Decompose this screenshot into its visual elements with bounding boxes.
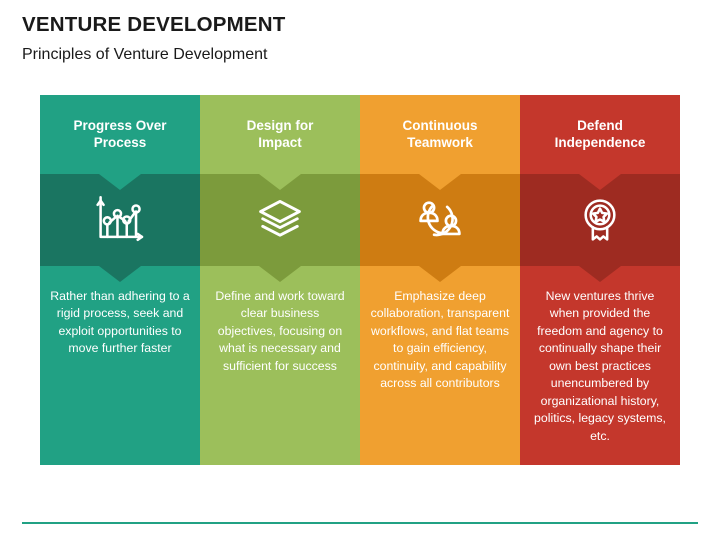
award-ribbon-icon — [573, 193, 627, 247]
column-header-4: Defend Independence — [520, 95, 680, 174]
principles-columns: Progress Over Process — [40, 95, 680, 465]
column-progress-over-process[interactable]: Progress Over Process — [40, 95, 200, 465]
title-block: VENTURE DEVELOPMENT Principles of Ventur… — [22, 14, 682, 63]
column-header-2: Design for Impact — [200, 95, 360, 174]
column-body-text-4: New ventures thrive when provided the fr… — [530, 288, 670, 445]
column-icon-band-3 — [360, 174, 520, 266]
chevron-notch-top-4 — [579, 174, 621, 190]
column-body-text-1: Rather than adhering to a rigid process,… — [50, 288, 190, 358]
column-body-text-2: Define and work toward clear business ob… — [210, 288, 350, 375]
column-defend-independence[interactable]: Defend Independence New ventures thrive … — [520, 95, 680, 465]
chevron-notch-bottom-4 — [579, 266, 621, 282]
column-header-label-3: Continuous Teamwork — [403, 118, 478, 152]
team-collaboration-icon — [413, 193, 467, 247]
column-header-label-1: Progress Over Process — [73, 118, 166, 152]
column-icon-band-4 — [520, 174, 680, 266]
column-body-1: Rather than adhering to a rigid process,… — [40, 266, 200, 465]
column-body-4: New ventures thrive when provided the fr… — [520, 266, 680, 465]
chevron-notch-top-1 — [99, 174, 141, 190]
chevron-notch-bottom-1 — [99, 266, 141, 282]
column-icon-band-1 — [40, 174, 200, 266]
page-title: VENTURE DEVELOPMENT — [22, 14, 682, 37]
line-chart-icon — [93, 193, 147, 247]
chevron-notch-top-3 — [419, 174, 461, 190]
column-header-3: Continuous Teamwork — [360, 95, 520, 174]
column-body-3: Emphasize deep collaboration, transparen… — [360, 266, 520, 465]
column-body-text-3: Emphasize deep collaboration, transparen… — [370, 288, 510, 393]
column-design-for-impact[interactable]: Design for Impact Define and work toward… — [200, 95, 360, 465]
column-header-label-2: Design for Impact — [247, 118, 314, 152]
column-body-2: Define and work toward clear business ob… — [200, 266, 360, 465]
bottom-accent-rule — [22, 522, 698, 525]
layers-stack-icon — [253, 193, 307, 247]
page-subtitle: Principles of Venture Development — [22, 46, 682, 64]
column-icon-band-2 — [200, 174, 360, 266]
column-header-1: Progress Over Process — [40, 95, 200, 174]
chevron-notch-top-2 — [259, 174, 301, 190]
column-continuous-teamwork[interactable]: Continuous Teamwork Emphasize deep colla… — [360, 95, 520, 465]
column-header-label-4: Defend Independence — [555, 118, 646, 152]
chevron-notch-bottom-2 — [259, 266, 301, 282]
chevron-notch-bottom-3 — [419, 266, 461, 282]
